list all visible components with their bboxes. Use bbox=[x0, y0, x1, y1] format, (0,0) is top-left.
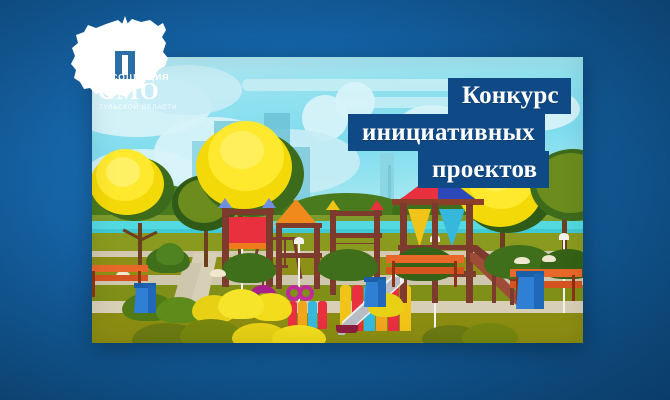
bench-leg bbox=[454, 261, 457, 287]
tree-highlight bbox=[106, 157, 140, 187]
bench-seat bbox=[386, 267, 464, 274]
rock bbox=[542, 255, 556, 262]
banner-stage: АССОЦИАЦИЯ СМО ТУЛЬСКОЙ ОБЛАСТИ Конкурс … bbox=[0, 0, 670, 400]
playground-spire bbox=[326, 200, 340, 210]
playground-spire bbox=[370, 200, 384, 210]
playground-roof-triangle bbox=[274, 199, 318, 225]
bench-leg bbox=[92, 271, 95, 297]
logo: АССОЦИАЦИЯ СМО ТУЛЬСКОЙ ОБЛАСТИ bbox=[62, 10, 182, 130]
tree-highlight bbox=[220, 131, 264, 169]
bush bbox=[222, 253, 276, 283]
logo-line3: ТУЛЬСКОЙ ОБЛАСТИ bbox=[99, 103, 177, 111]
lamp-head-icon bbox=[294, 237, 304, 244]
tree-trunk bbox=[138, 223, 142, 271]
bush-yellow bbox=[218, 289, 264, 319]
logo-text-group: АССОЦИАЦИЯ СМО ТУЛЬСКОЙ ОБЛАСТИ bbox=[97, 72, 177, 111]
title-line-2: инициативных bbox=[348, 114, 545, 151]
playground-beam bbox=[222, 209, 274, 215]
trash-bin-side bbox=[378, 279, 386, 307]
bush bbox=[392, 247, 456, 281]
bench-leg bbox=[392, 261, 395, 287]
bench bbox=[386, 255, 464, 263]
lamp-head-icon bbox=[559, 233, 569, 240]
playground-panel-red bbox=[229, 217, 266, 243]
bush bbox=[156, 243, 184, 265]
playground-panel-orange bbox=[229, 243, 266, 249]
title-line-1: Конкурс bbox=[448, 78, 571, 114]
playground-spire bbox=[218, 198, 232, 208]
rock bbox=[514, 257, 530, 264]
trash-bin-side bbox=[534, 273, 544, 309]
title-line-3: проектов bbox=[418, 151, 549, 188]
fence-picket bbox=[308, 301, 317, 329]
playground-beam bbox=[330, 211, 382, 216]
logo-line2: СМО bbox=[98, 79, 160, 105]
playground-beam bbox=[276, 253, 322, 258]
fence-picket bbox=[318, 301, 327, 329]
playground-beam bbox=[276, 223, 322, 228]
rock bbox=[210, 269, 226, 277]
climbing-net bbox=[334, 237, 378, 238]
bench-leg bbox=[572, 275, 575, 301]
slide-end bbox=[336, 325, 358, 333]
climbing-net bbox=[334, 243, 378, 244]
tree-trunk bbox=[204, 225, 208, 267]
trash-bin-side bbox=[148, 285, 156, 313]
ring-handle-icon bbox=[298, 285, 314, 301]
